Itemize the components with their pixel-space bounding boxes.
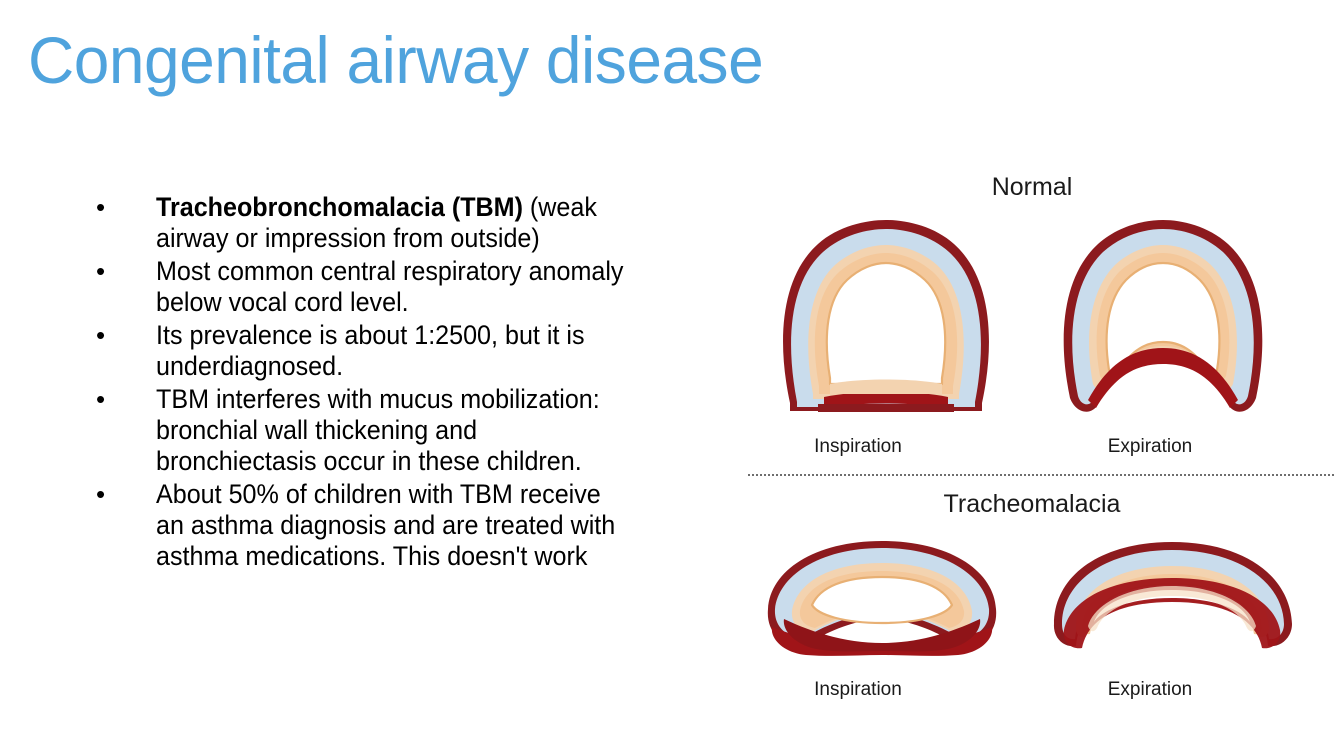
- caption-normal-inspiration: Inspiration: [758, 436, 958, 458]
- list-item-text: TBM interferes with mucus mobilization: …: [156, 384, 630, 477]
- list-item: • Its prevalence is about 1:2500, but it…: [86, 320, 666, 382]
- caption-tracheomalacia-expiration: Expiration: [1050, 679, 1250, 701]
- list-item: • About 50% of children with TBM receive…: [86, 479, 666, 572]
- airway-tracheomalacia-inspiration-illustration: [762, 535, 1002, 660]
- list-item-text: About 50% of children with TBM receive a…: [156, 479, 630, 572]
- airway-tracheomalacia-expiration-illustration: [1048, 538, 1298, 658]
- bullet-icon: •: [86, 256, 156, 287]
- caption-tracheomalacia-inspiration: Inspiration: [758, 679, 958, 701]
- airway-normal-expiration-illustration: [1060, 218, 1265, 423]
- list-item-text: Its prevalence is about 1:2500, but it i…: [156, 320, 630, 382]
- bullet-icon: •: [86, 384, 156, 415]
- list-item-text: Most common central respiratory anomaly …: [156, 256, 630, 318]
- list-item-lead: Tracheobronchomalacia (TBM): [156, 192, 523, 222]
- bullet-icon: •: [86, 479, 156, 510]
- bullet-icon: •: [86, 192, 156, 223]
- bullet-icon: •: [86, 320, 156, 351]
- bullet-list: • Tracheobronchomalacia (TBM) (weak airw…: [86, 192, 666, 574]
- section-divider: [748, 474, 1334, 476]
- page-title: Congenital airway disease: [28, 26, 763, 95]
- list-item: • Most common central respiratory anomal…: [86, 256, 666, 318]
- list-item-text: Tracheobronchomalacia (TBM) (weak airway…: [156, 192, 630, 254]
- list-item: • TBM interferes with mucus mobilization…: [86, 384, 666, 477]
- figure-heading-tracheomalacia: Tracheomalacia: [730, 490, 1334, 519]
- caption-normal-expiration: Expiration: [1050, 436, 1250, 458]
- list-item: • Tracheobronchomalacia (TBM) (weak airw…: [86, 192, 666, 254]
- airway-normal-inspiration-illustration: [778, 218, 993, 423]
- figure-heading-normal: Normal: [730, 173, 1334, 202]
- tracheal-cross-section-diagram: Normal Tracheomalacia Inspiration Expira…: [730, 160, 1334, 720]
